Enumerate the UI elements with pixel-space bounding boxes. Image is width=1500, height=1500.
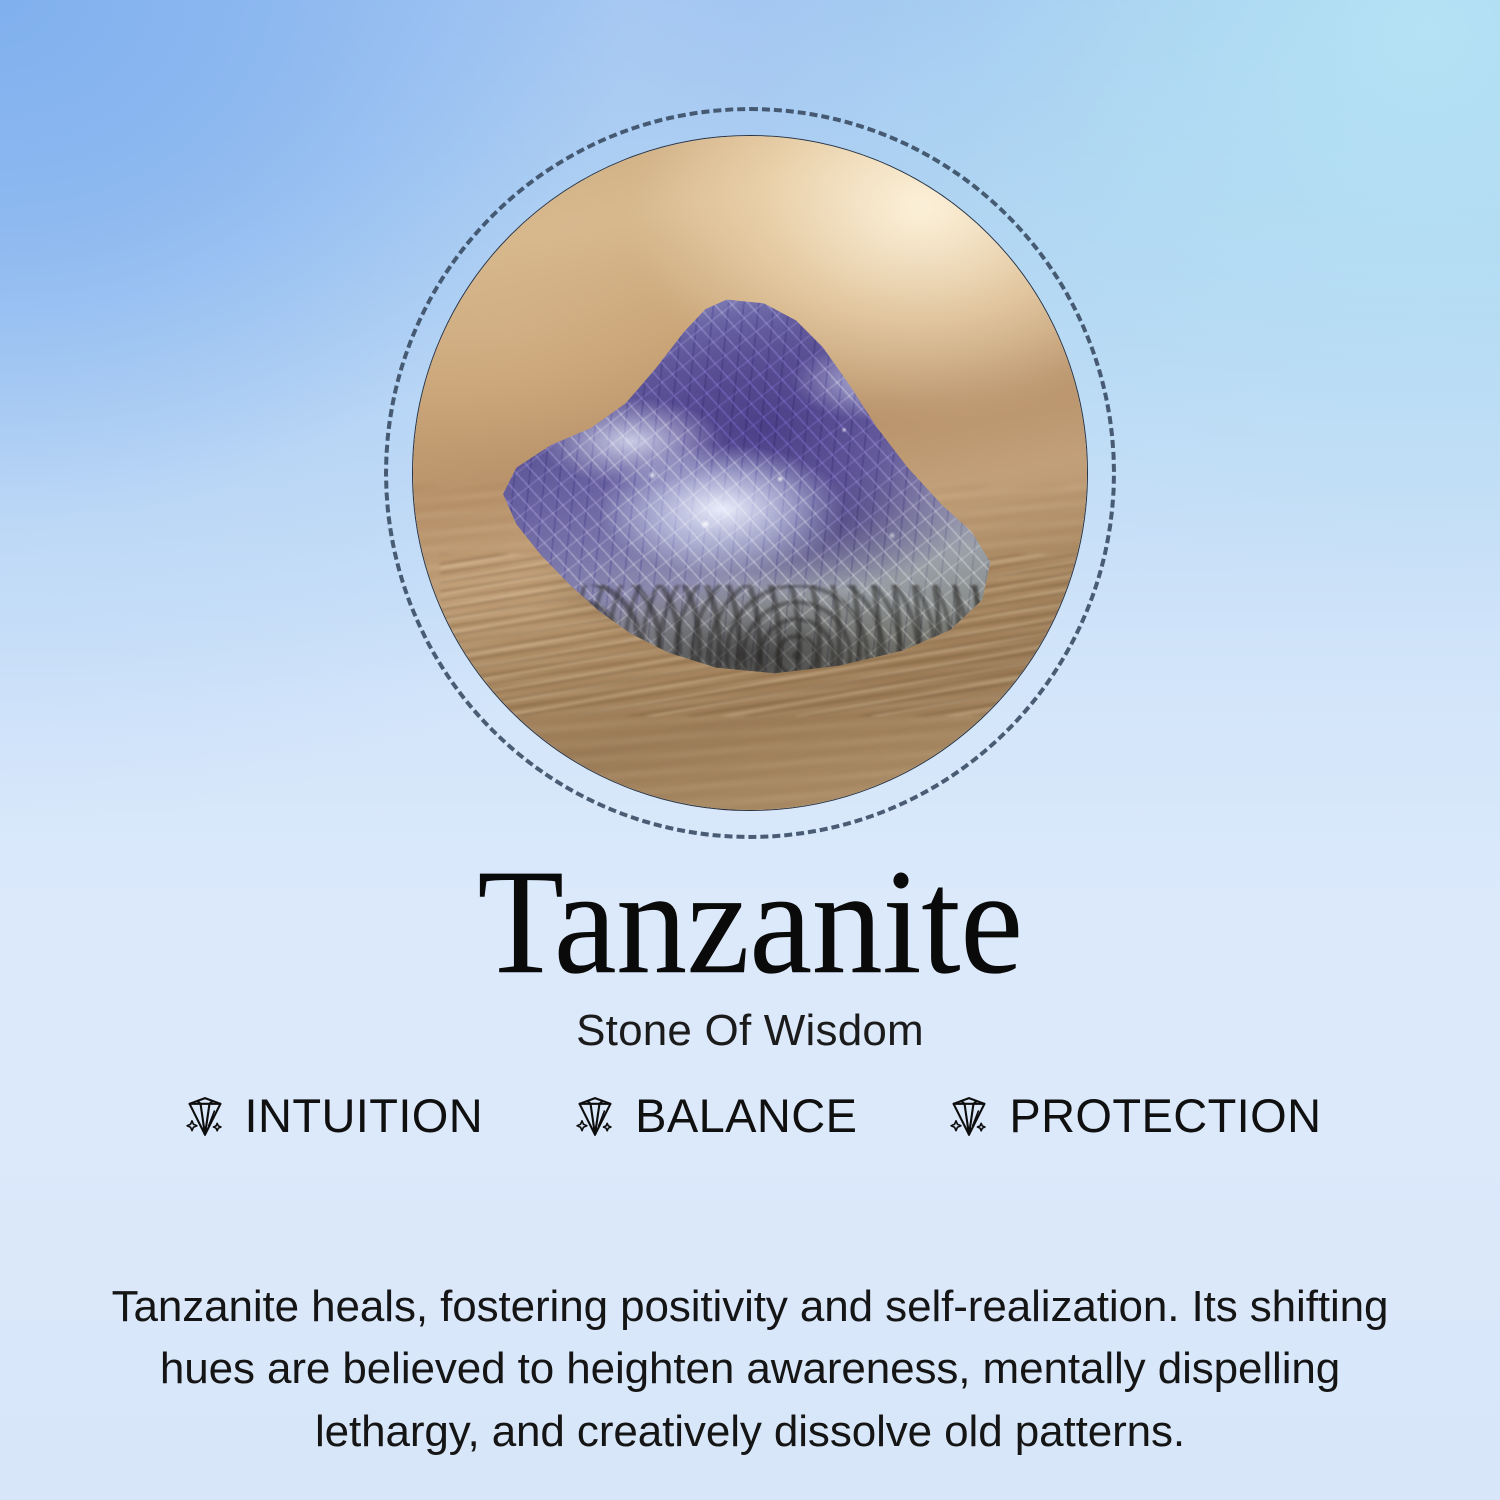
keyword-item-balance: BALANCE <box>569 1088 857 1143</box>
diamond-icon <box>569 1090 621 1142</box>
gemstone-info-card: Tanzanite Stone Of Wisdom INTUITION <box>0 0 1500 1500</box>
title-block: Tanzanite Stone Of Wisdom <box>0 845 1500 1056</box>
hero-section <box>0 0 1500 880</box>
diamond-icon <box>179 1090 231 1142</box>
keyword-item-intuition: INTUITION <box>179 1088 484 1143</box>
keyword-list: INTUITION BALANCE <box>0 1088 1500 1143</box>
gemstone-photo <box>412 135 1088 811</box>
keyword-item-protection: PROTECTION <box>943 1088 1321 1143</box>
gemstone-photo-scene <box>413 136 1087 810</box>
keyword-label: INTUITION <box>245 1088 484 1143</box>
description-text: Tanzanite heals, fostering positivity an… <box>96 1276 1404 1463</box>
keyword-label: PROTECTION <box>1009 1088 1321 1143</box>
page-title: Tanzanite <box>0 845 1500 999</box>
diamond-icon <box>943 1090 995 1142</box>
keyword-label: BALANCE <box>635 1088 857 1143</box>
page-subtitle: Stone Of Wisdom <box>0 1006 1500 1056</box>
